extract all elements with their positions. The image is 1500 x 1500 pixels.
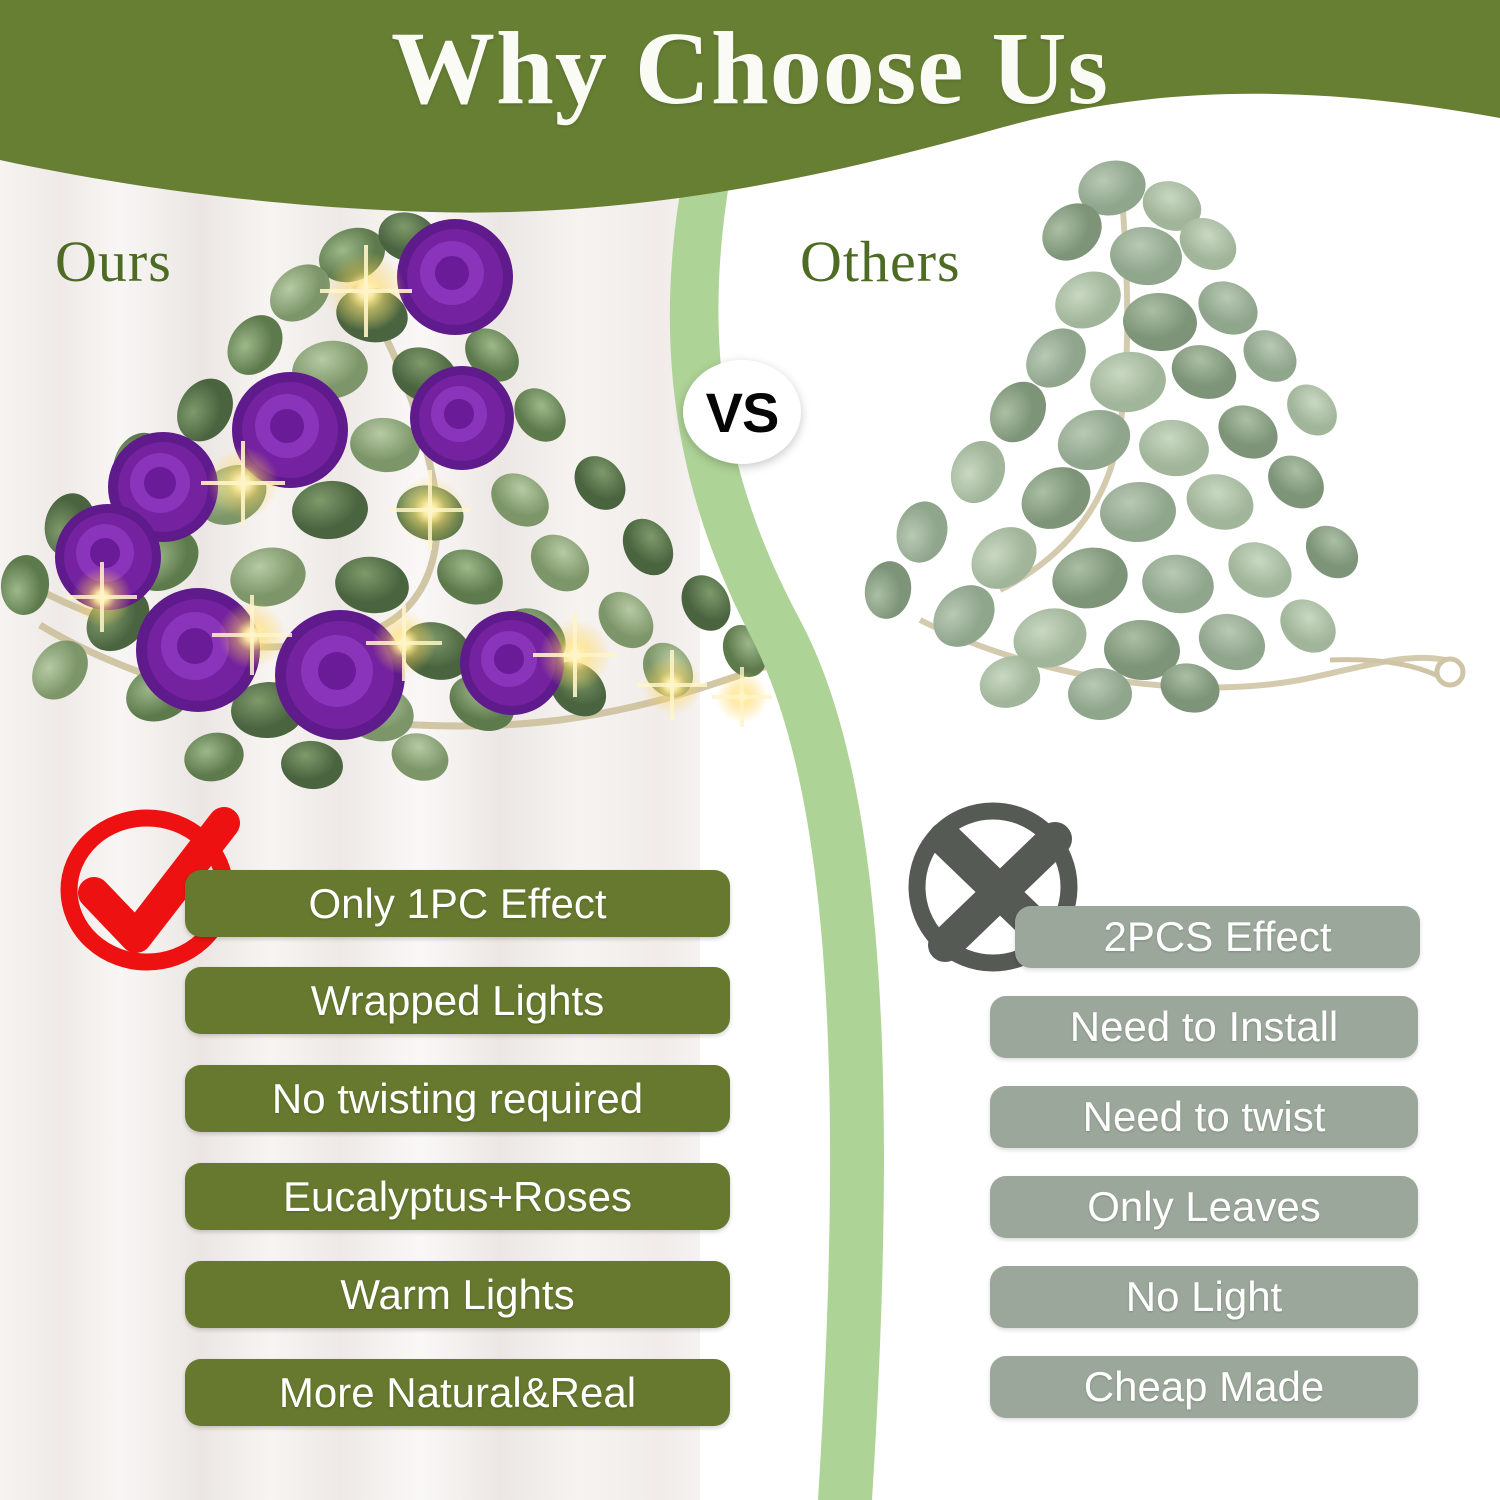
others-feature-pill[interactable]: Only Leaves (990, 1176, 1418, 1238)
ours-feature-pill[interactable]: Only 1PC Effect (185, 870, 730, 937)
ours-feature-pill[interactable]: Warm Lights (185, 1261, 730, 1328)
ours-feature-pill[interactable]: More Natural&Real (185, 1359, 730, 1426)
ours-feature-pill[interactable]: Wrapped Lights (185, 967, 730, 1034)
ours-label: Ours (55, 228, 172, 295)
ours-feature-pill[interactable]: Eucalyptus+Roses (185, 1163, 730, 1230)
vs-badge: VS (683, 360, 801, 464)
others-feature-pill[interactable]: Cheap Made (990, 1356, 1418, 1418)
others-feature-pill[interactable]: Need to Install (990, 996, 1418, 1058)
page-title: Why Choose Us (0, 14, 1500, 123)
ours-feature-pill[interactable]: No twisting required (185, 1065, 730, 1132)
comparison-infographic: Why Choose Us Ours Others VS Only 1PC Ef… (0, 0, 1500, 1500)
others-feature-pill[interactable]: 2PCS Effect (1015, 906, 1420, 968)
others-feature-pill[interactable]: No Light (990, 1266, 1418, 1328)
others-label: Others (800, 228, 961, 295)
others-feature-pill[interactable]: Need to twist (990, 1086, 1418, 1148)
header-band: Why Choose Us (0, 0, 1500, 250)
